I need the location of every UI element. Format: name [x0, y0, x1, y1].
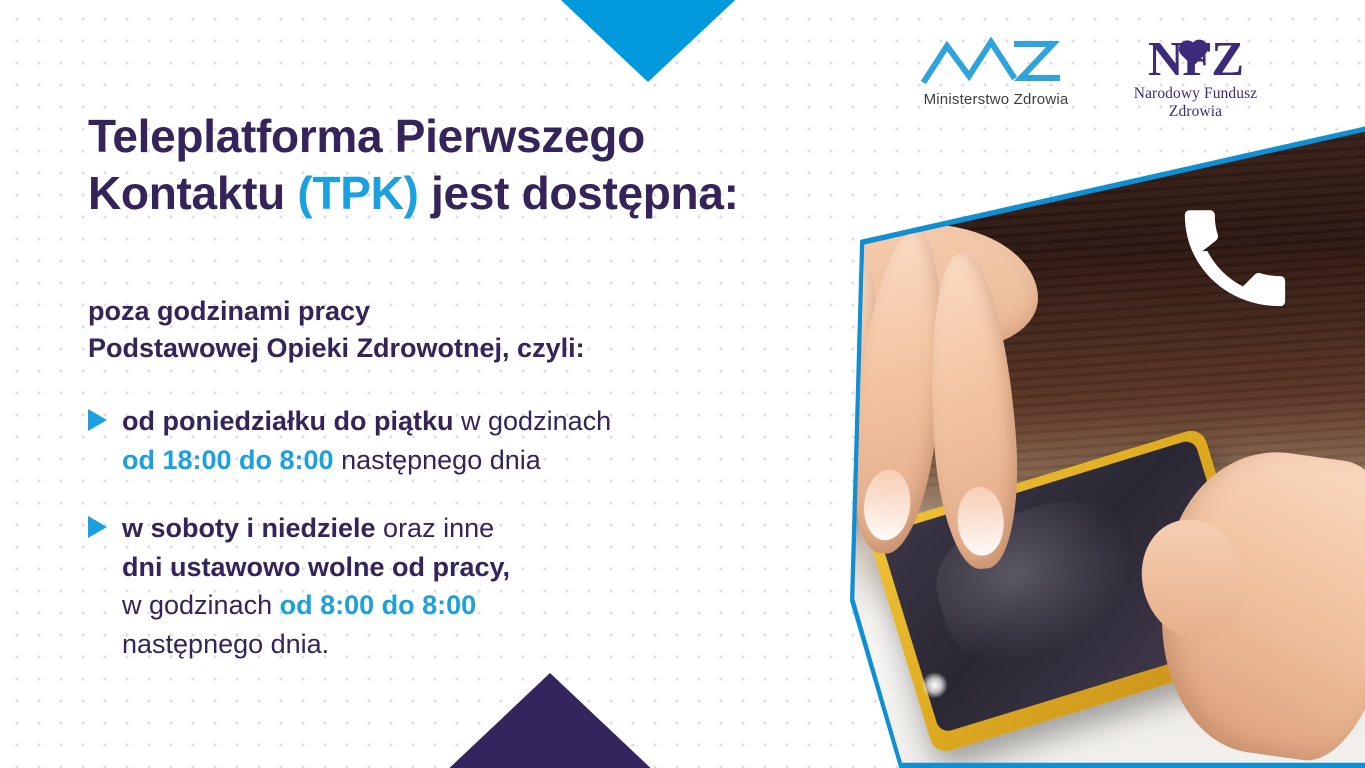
bullet-1-bold-days: od poniedziałku do piątku: [122, 406, 454, 436]
bullet-2-plain-2: w godzinach: [122, 590, 280, 620]
list-item: w soboty i niedziele oraz inne dni ustaw…: [88, 509, 778, 663]
phone-handset-icon: [1175, 198, 1293, 316]
fingernail: [773, 465, 831, 537]
bullet-2-plain-1: oraz inne: [376, 513, 495, 543]
ministry-logo-caption: Ministerstwo Zdrowia: [910, 91, 1082, 108]
text-content-column: Teleplatforma Pierwszego Kontaktu (TPK) …: [88, 0, 778, 768]
photo-panel: [690, 112, 1365, 768]
ministry-of-health-logo: Ministerstwo Zdrowia: [910, 36, 1082, 108]
poster-canvas: Ministerstwo Zdrowia NFZ Narodowy Fundus…: [0, 0, 1365, 768]
subheading: poza godzinami pracy Podstawowej Opieki …: [88, 293, 778, 368]
bullet-2-bold-days: w soboty i niedziele: [122, 513, 376, 543]
headline-tpk-accent: (TPK): [297, 167, 418, 219]
nfz-letter-z: Z: [1211, 31, 1243, 86]
bullet-1-plain-1: w godzinach: [454, 406, 612, 436]
availability-list: od poniedziałku do piątku w godzinach od…: [88, 402, 778, 694]
nfz-logo-caption: Narodowy Fundusz Zdrowia: [1108, 85, 1283, 121]
bullet-1-plain-2: następnego dnia: [334, 445, 541, 475]
headline-line-1: Teleplatforma Pierwszego: [88, 110, 645, 162]
list-item: od poniedziałku do piątku w godzinach od…: [88, 402, 778, 479]
mz-monogram-icon: [921, 36, 1071, 88]
photo-image: [690, 112, 1365, 768]
headline-line-2-suffix: jest dostępna:: [419, 167, 739, 219]
nfz-logo: NFZ Narodowy Fundusz Zdrowia: [1108, 36, 1283, 121]
fingernail: [861, 467, 914, 543]
fingernail: [956, 485, 1007, 558]
bullet-1-hours: od 18:00 do 8:00: [122, 445, 334, 475]
bullet-2-bold-holidays: dni ustawowo wolne od pracy,: [122, 552, 510, 582]
headline-line-2-prefix: Kontaktu: [88, 167, 297, 219]
nfz-monogram: NFZ: [1148, 36, 1243, 83]
nfz-letter-n: N: [1148, 31, 1182, 86]
bullet-2-hours: od 8:00 do 8:00: [280, 590, 477, 620]
subheading-line-2: Podstawowej Opieki Zdrowotnej, czyli:: [88, 333, 585, 363]
triangle-bullet-icon: [88, 409, 107, 431]
logo-group: Ministerstwo Zdrowia NFZ Narodowy Fundus…: [910, 36, 1283, 121]
page-title: Teleplatforma Pierwszego Kontaktu (TPK) …: [88, 108, 778, 222]
subheading-line-1: poza godzinami pracy: [88, 296, 370, 326]
triangle-bullet-icon: [88, 516, 107, 538]
bullet-2-plain-3: następnego dnia.: [122, 629, 329, 659]
